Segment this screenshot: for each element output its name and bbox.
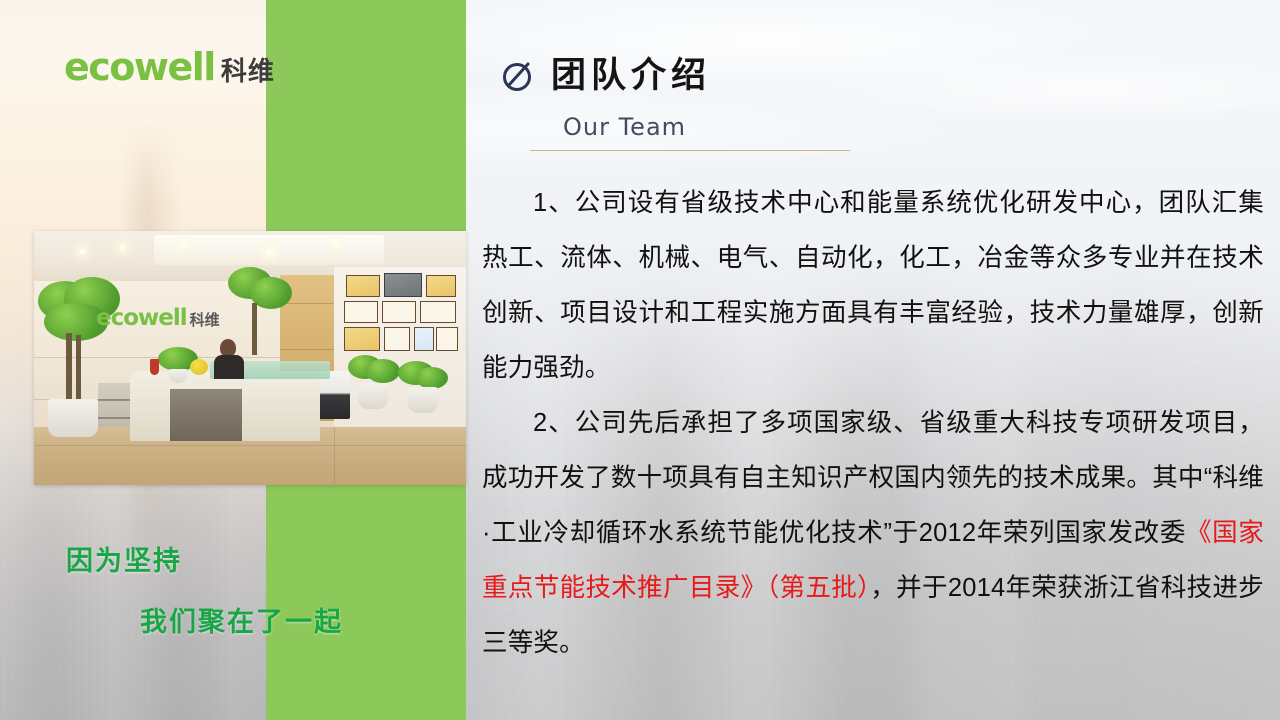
paragraph-1-segment-1: 1、公司设有省级技术中心和能量系统优化研发中心，团队汇集热工、流体、机械、电气、…	[482, 189, 1264, 382]
photo-ceiling-light-5	[334, 241, 339, 246]
photo-plant-right-1-pot	[358, 383, 388, 409]
photo-certificate-5	[382, 301, 416, 323]
paragraph-1: 1、公司设有省级技术中心和能量系统优化研发中心，团队汇集热工、流体、机械、电气、…	[482, 176, 1264, 396]
photo-certificate-7	[344, 327, 380, 351]
photo-wall-logo-en: ecowell	[96, 307, 187, 330]
photo-certificate-1	[346, 275, 380, 297]
photo-ceiling-light-1	[80, 249, 85, 254]
photo-certificate-4	[344, 301, 378, 323]
page-title: 团队介绍	[551, 58, 711, 93]
photo-certificate-6	[420, 301, 456, 323]
paragraph-2-segment-1: 2、公司先后承担了多项国家级、省级重大科技专项研发项目，成功开发了数十项具有自主…	[482, 409, 1264, 547]
company-logo-cn: 科维	[221, 58, 275, 84]
photo-plant-right-1-foliage-2	[366, 359, 400, 383]
photo-wall-logo: ecowell 科维	[96, 307, 220, 330]
office-reception-photo: ecowell 科维	[34, 231, 466, 485]
photo-ceiling-light-2	[120, 245, 125, 250]
photo-plant-left-trunk	[66, 333, 72, 401]
photo-plant-left-pot	[48, 399, 98, 437]
photo-ceiling-light-4	[266, 249, 274, 255]
photo-desk-ornament-yellow	[190, 359, 208, 375]
content-column: 团队介绍 Our Team 1、公司设有省级技术中心和能量系统优化研发中心，团队…	[466, 0, 1280, 720]
photo-floor-seam-2	[334, 427, 335, 485]
photo-ceiling-light-3	[180, 241, 186, 247]
photo-plant-right-1	[348, 355, 402, 427]
photo-certificate-10	[436, 327, 458, 351]
slashed-circle-icon	[501, 59, 535, 93]
slide-root: ecowell 科维	[0, 0, 1280, 720]
photo-plant-right-2-pot	[408, 387, 438, 413]
photo-plant-right-2	[398, 361, 452, 431]
photo-plant-right-2-foliage-2	[416, 367, 448, 389]
photo-plant-center	[224, 267, 296, 375]
company-logo: ecowell 科维	[64, 48, 275, 86]
photo-certificate-9	[414, 327, 434, 351]
photo-certificate-3	[426, 275, 456, 297]
paragraph-2: 2、公司先后承担了多项国家级、省级重大科技专项研发项目，成功开发了数十项具有自主…	[482, 396, 1264, 671]
slogan-block: 因为坚持 我们聚在了一起	[66, 548, 466, 636]
title-divider	[530, 150, 850, 151]
photo-desk-vase-red	[150, 359, 159, 375]
section-header: 团队介绍	[501, 58, 711, 93]
photo-certificate-8	[384, 327, 410, 351]
slogan-line-1: 因为坚持	[66, 548, 466, 575]
company-logo-en: ecowell	[64, 48, 215, 86]
slogan-line-2: 我们聚在了一起	[140, 609, 466, 636]
body-copy: 1、公司设有省级技术中心和能量系统优化研发中心，团队汇集热工、流体、机械、电气、…	[482, 176, 1264, 671]
photo-wall-logo-cn: 科维	[190, 313, 220, 328]
page-subtitle: Our Team	[563, 113, 686, 141]
photo-plant-left-trunk-2	[76, 335, 81, 401]
photo-plant-left	[36, 277, 122, 447]
photo-counter-metal-panel	[170, 389, 242, 441]
photo-plant-desk-pot	[168, 369, 188, 383]
photo-plant-center-trunk	[252, 303, 257, 355]
photo-certificate-2	[384, 273, 422, 297]
